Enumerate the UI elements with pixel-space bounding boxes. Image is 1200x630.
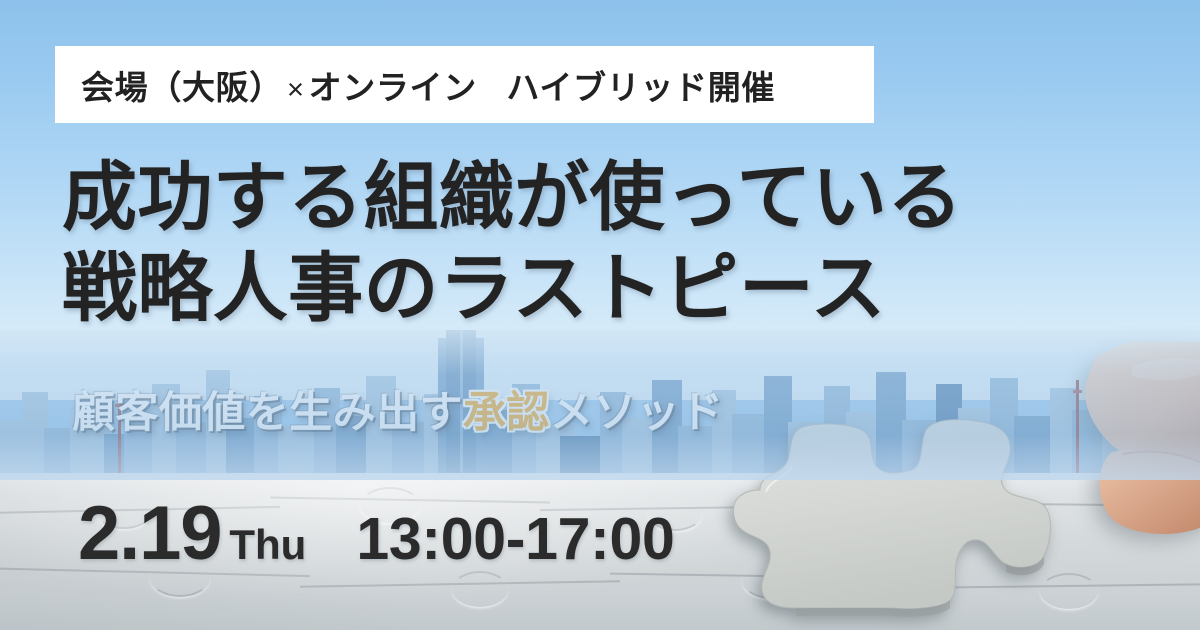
event-day-of-week: Thu	[229, 524, 306, 566]
venue-banner-text: 会場（大阪）×オンライン ハイブリッド開催	[81, 61, 775, 109]
venue-label: 会場（大阪）	[81, 69, 283, 106]
event-date: 2.19	[78, 496, 221, 572]
subtitle-highlight: 承認	[463, 389, 550, 437]
separator-x: ×	[283, 74, 309, 106]
venue-banner: 会場（大阪）×オンライン ハイブリッド開催	[55, 46, 874, 123]
subtitle-after: メソッド	[550, 389, 724, 437]
headline-line-2: 戦略人事のラストピース	[62, 243, 1062, 334]
online-label: オンライン	[309, 69, 477, 106]
subtitle: 顧客価値を生み出す承認メソッド	[72, 378, 723, 440]
event-poster: 会場（大阪）×オンライン ハイブリッド開催 成功する組織が使っている 戦略人事の…	[0, 0, 1200, 630]
subtitle-before: 顧客価値を生み出す	[72, 389, 463, 437]
hand-holding-piece	[1036, 342, 1200, 552]
schedule: 2.19 Thu 13:00-17:00	[78, 496, 675, 572]
format-label: ハイブリッド開催	[506, 69, 775, 106]
headline-line-1: 成功する組織が使っている	[62, 152, 1062, 243]
event-time-range: 13:00-17:00	[356, 510, 674, 569]
headline: 成功する組織が使っている 戦略人事のラストピース	[62, 152, 1062, 334]
